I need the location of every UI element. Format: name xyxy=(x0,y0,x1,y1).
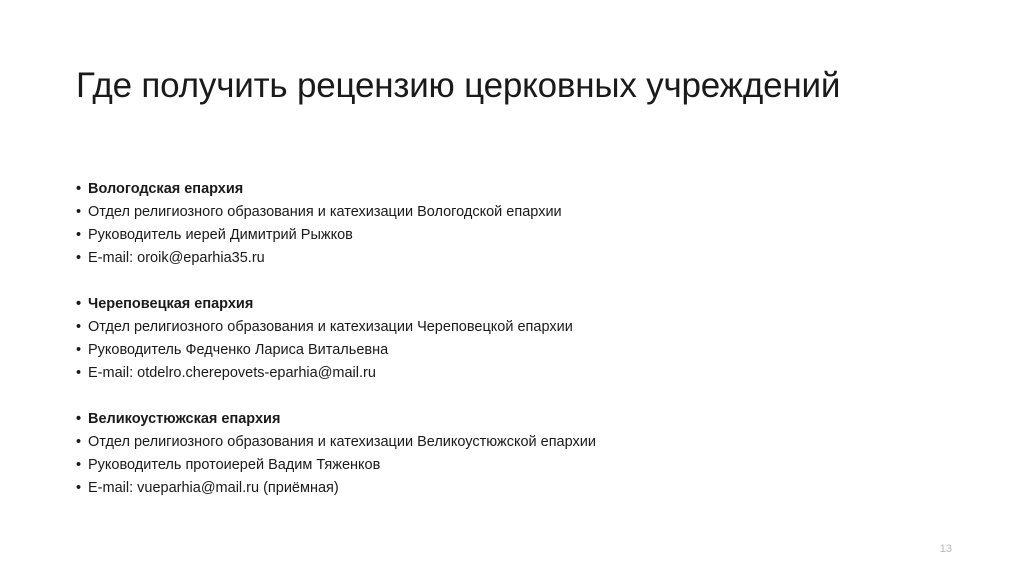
bullet-point-icon: • xyxy=(76,454,81,477)
bullet-group-vologodskaya-eparhiya: •Вологодская епархия•Отдел религиозного … xyxy=(76,178,876,270)
bullet-text: Великоустюжская епархия xyxy=(88,411,280,427)
bullet-text: E-mail: vueparhia@mail.ru (приёмная) xyxy=(88,480,339,496)
bullet-item: •Отдел религиозного образования и катехи… xyxy=(76,316,876,339)
bullet-item: •E-mail: oroik@eparhia35.ru xyxy=(76,247,876,270)
bullet-group-velikoustyuzhskaya-eparhiya: •Великоустюжская епархия•Отдел религиозн… xyxy=(76,408,876,500)
bullet-point-icon: • xyxy=(76,247,81,270)
page-number: 13 xyxy=(940,542,952,556)
bullet-point-icon: • xyxy=(76,224,81,247)
bullet-item: •Руководитель Федченко Лариса Витальевна xyxy=(76,339,876,362)
bullet-item: •Отдел религиозного образования и катехи… xyxy=(76,201,876,224)
bullet-text: Руководитель протоиерей Вадим Тяженков xyxy=(88,457,380,473)
page-title: Где получить рецензию церковных учрежден… xyxy=(76,63,856,109)
bullet-content: •Вологодская епархия•Отдел религиозного … xyxy=(76,178,876,500)
bullet-item: •Руководитель иерей Димитрий Рыжков xyxy=(76,224,876,247)
bullet-text: E-mail: otdelro.cherepovets-eparhia@mail… xyxy=(88,365,376,381)
bullet-point-icon: • xyxy=(76,362,81,385)
bullet-heading: •Вологодская епархия xyxy=(76,178,876,201)
bullet-point-icon: • xyxy=(76,316,81,339)
bullet-heading: •Череповецкая епархия xyxy=(76,293,876,316)
bullet-text: Вологодская епархия xyxy=(88,181,243,197)
bullet-text: Отдел религиозного образования и катехиз… xyxy=(88,204,562,220)
bullet-text: Череповецкая епархия xyxy=(88,296,253,312)
bullet-item: •Руководитель протоиерей Вадим Тяженков xyxy=(76,454,876,477)
bullet-text: Отдел религиозного образования и катехиз… xyxy=(88,434,596,450)
bullet-text: Руководитель иерей Димитрий Рыжков xyxy=(88,227,353,243)
bullet-item: •Отдел религиозного образования и катехи… xyxy=(76,431,876,454)
bullet-text: Руководитель Федченко Лариса Витальевна xyxy=(88,342,388,358)
bullet-point-icon: • xyxy=(76,339,81,362)
bullet-group-cherepoveckaya-eparhiya: •Череповецкая епархия•Отдел религиозного… xyxy=(76,293,876,385)
bullet-heading: •Великоустюжская епархия xyxy=(76,408,876,431)
bullet-point-icon: • xyxy=(76,178,81,201)
bullet-item: •E-mail: otdelro.cherepovets-eparhia@mai… xyxy=(76,362,876,385)
bullet-point-icon: • xyxy=(76,477,81,500)
bullet-item: •E-mail: vueparhia@mail.ru (приёмная) xyxy=(76,477,876,500)
bullet-point-icon: • xyxy=(76,408,81,431)
bullet-text: Отдел религиозного образования и катехиз… xyxy=(88,319,573,335)
bullet-point-icon: • xyxy=(76,431,81,454)
bullet-point-icon: • xyxy=(76,201,81,224)
slide: Где получить рецензию церковных учрежден… xyxy=(0,0,1024,576)
bullet-text: E-mail: oroik@eparhia35.ru xyxy=(88,250,265,266)
bullet-point-icon: • xyxy=(76,293,81,316)
